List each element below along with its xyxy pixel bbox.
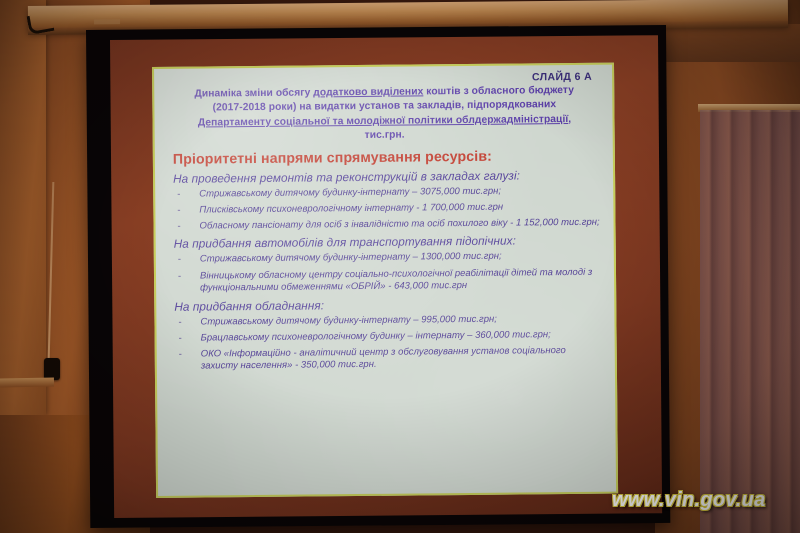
- group-bullet-list: -Стрижавському дитячому будинку-інтернат…: [170, 250, 602, 295]
- slide-section-heading: Пріоритетні напрями спрямування ресурсів…: [173, 147, 601, 167]
- vertical-blinds: [700, 110, 800, 533]
- slide-group-repairs: На проведення ремонтів та реконструкцій …: [169, 167, 602, 233]
- group-bullet-list: -Стрижавському дитячому будинку-інтернат…: [170, 312, 603, 374]
- wall-ledge: [0, 378, 54, 388]
- screenshot-root: СЛАЙД 6 А Динаміка зміни обсягу додатков…: [0, 0, 800, 533]
- list-item: -Плисківському психоневрологічному інтер…: [169, 200, 601, 217]
- wall-panel: [0, 0, 46, 415]
- group-subheading: На придбання автомобілів для транспортув…: [174, 233, 602, 251]
- list-item: -Стрижавському дитячому будинку-інтернат…: [170, 250, 602, 267]
- slide-title: Динаміка зміни обсягу додатково виділени…: [174, 84, 595, 146]
- list-item: -Обласному пансіонату для осіб з інвалід…: [169, 217, 601, 234]
- group-subheading: На придбання обладнання:: [174, 295, 602, 313]
- projected-slide: СЛАЙД 6 А Динаміка зміни обсягу додатков…: [152, 63, 618, 498]
- bullet-dash: -: [178, 254, 181, 267]
- site-watermark: www.vin.gov.ua: [612, 489, 766, 512]
- list-item: -Стрижавському дитячому будинку-інтернат…: [169, 184, 601, 201]
- bullet-dash: -: [177, 221, 180, 234]
- group-subheading: На проведення ремонтів та реконструкцій …: [173, 167, 601, 185]
- bullet-dash: -: [179, 349, 182, 362]
- slide-group-equipment: На придбання обладнання: -Стрижавському …: [170, 295, 603, 374]
- list-item: -Брацлавському психоневрологічному будин…: [171, 328, 603, 345]
- bullet-dash: -: [179, 333, 182, 346]
- group-bullet-list: -Стрижавському дитячому будинку-інтернат…: [169, 184, 601, 233]
- list-item: -ОКО «Інформаційно - аналітичний центр з…: [171, 345, 603, 374]
- bullet-dash: -: [178, 316, 181, 329]
- bullet-dash: -: [178, 270, 181, 283]
- bullet-dash: -: [177, 188, 180, 201]
- bullet-dash: -: [177, 204, 180, 217]
- list-item: -Вінницькому обласному центру соціально-…: [170, 266, 602, 295]
- roller-label: [94, 19, 120, 24]
- list-item: -Стрижавському дитячому будинку-інтернат…: [170, 312, 602, 329]
- slide-group-vehicles: На придбання автомобілів для транспортув…: [170, 233, 603, 295]
- ceiling-beam: [655, 24, 800, 62]
